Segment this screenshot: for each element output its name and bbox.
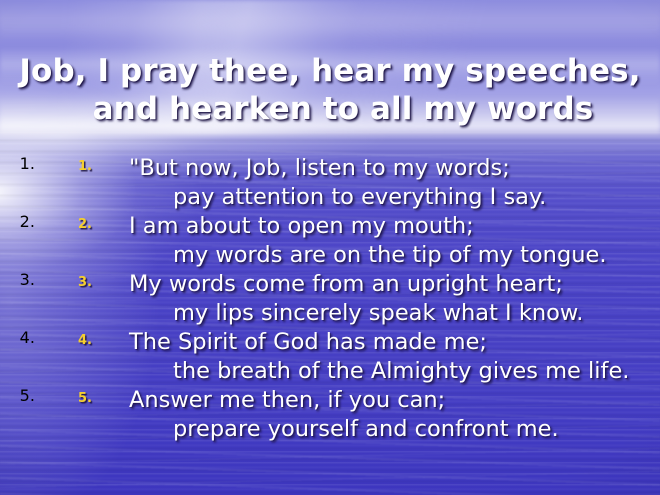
slide-title-line-2: and hearken to all my words xyxy=(0,90,660,128)
list-item-text: I am about to open my mouth;my words are… xyxy=(129,212,652,270)
list-item: 1. "But now, Job, listen to my words;pay… xyxy=(40,154,660,212)
list-item: 5. Answer me then, if you can;prepare yo… xyxy=(40,386,660,444)
list-item-text: The Spirit of God has made me;the breath… xyxy=(129,328,652,386)
list-item-line-a: Answer me then, if you can; xyxy=(129,387,445,413)
list-item-number: 5. xyxy=(78,391,112,406)
list-item-line-b: my lips sincerely speak what I know. xyxy=(129,299,652,328)
list-item-text: "But now, Job, listen to my words;pay at… xyxy=(129,154,652,212)
list-item: 2. I am about to open my mouth;my words … xyxy=(40,212,660,270)
slide-title: Job, I pray thee, hear my speeches,and h… xyxy=(0,52,660,128)
list-item: 4. The Spirit of God has made me;the bre… xyxy=(40,328,660,386)
list-item-line-b: prepare yourself and confront me. xyxy=(129,415,652,444)
presentation-slide: Job, I pray thee, hear my speeches,and h… xyxy=(0,0,660,495)
list-item-text: Answer me then, if you can;prepare yours… xyxy=(129,386,652,444)
list-item-line-b: my words are on the tip of my tongue. xyxy=(129,241,652,270)
list-item-number: 4. xyxy=(78,333,112,348)
numbered-verse-list: 1. "But now, Job, listen to my words;pay… xyxy=(0,154,660,444)
list-item-line-a: "But now, Job, listen to my words; xyxy=(129,155,510,181)
list-item: 3. My words come from an upright heart;m… xyxy=(40,270,660,328)
list-item-line-a: I am about to open my mouth; xyxy=(129,213,474,239)
list-item-line-a: The Spirit of God has made me; xyxy=(129,329,487,355)
list-item-line-b: the breath of the Almighty gives me life… xyxy=(129,357,652,386)
list-item-line-a: My words come from an upright heart; xyxy=(129,271,563,297)
list-item-number: 2. xyxy=(78,217,112,232)
list-item-line-b: pay attention to everything I say. xyxy=(129,183,652,212)
list-item-text: My words come from an upright heart;my l… xyxy=(129,270,652,328)
list-item-number: 1. xyxy=(78,159,112,174)
slide-content: Job, I pray thee, hear my speeches,and h… xyxy=(0,0,660,495)
list-item-number: 3. xyxy=(78,275,112,290)
slide-title-line-1: Job, I pray thee, hear my speeches, xyxy=(19,53,640,89)
